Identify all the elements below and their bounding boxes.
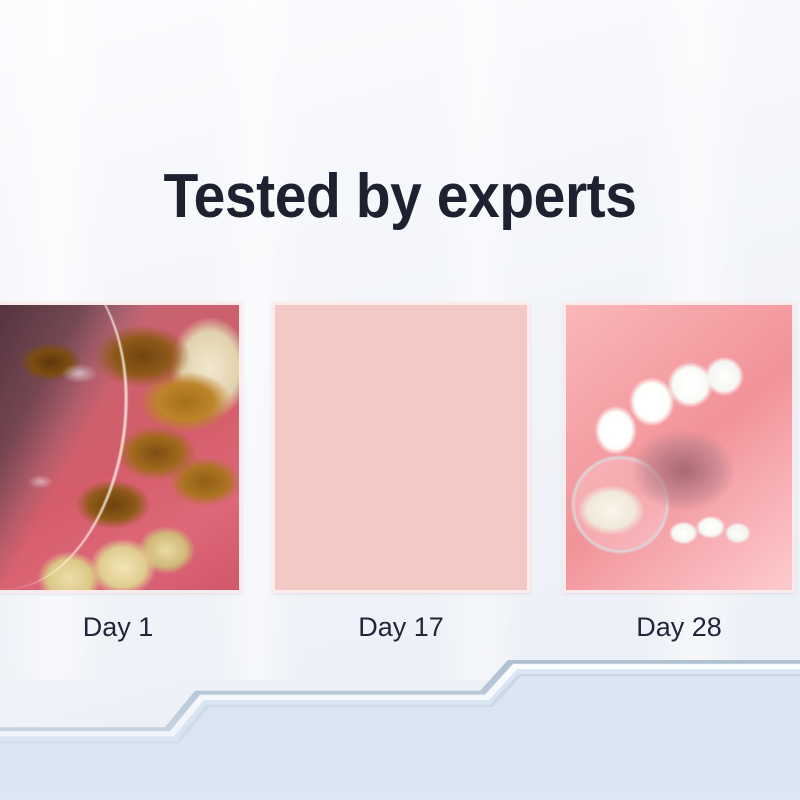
teeth-day-17-image — [275, 305, 527, 590]
bottom-stepped-band — [0, 660, 800, 800]
teeth-day-28-image — [566, 305, 792, 590]
comparison-captions: Day 1 Day 17 Day 28 — [0, 606, 800, 648]
comparison-panel-day-1 — [0, 302, 242, 593]
teeth-day-28-photo — [566, 305, 792, 590]
teeth-day-1-photo — [0, 305, 239, 590]
comparison-panel-day-17 — [272, 302, 530, 593]
caption-day-28: Day 28 — [563, 606, 795, 648]
promo-poster: Tested by experts Day 1 Day 17 Day 28 — [0, 0, 800, 800]
caption-day-17: Day 17 — [272, 606, 530, 648]
comparison-photo-strip — [0, 302, 800, 593]
caption-day-1: Day 1 — [0, 606, 242, 648]
page-title: Tested by experts — [32, 166, 768, 228]
comparison-panel-day-28 — [563, 302, 795, 593]
teeth-day-1-image — [0, 305, 239, 590]
teeth-day-17-photo — [275, 305, 527, 590]
